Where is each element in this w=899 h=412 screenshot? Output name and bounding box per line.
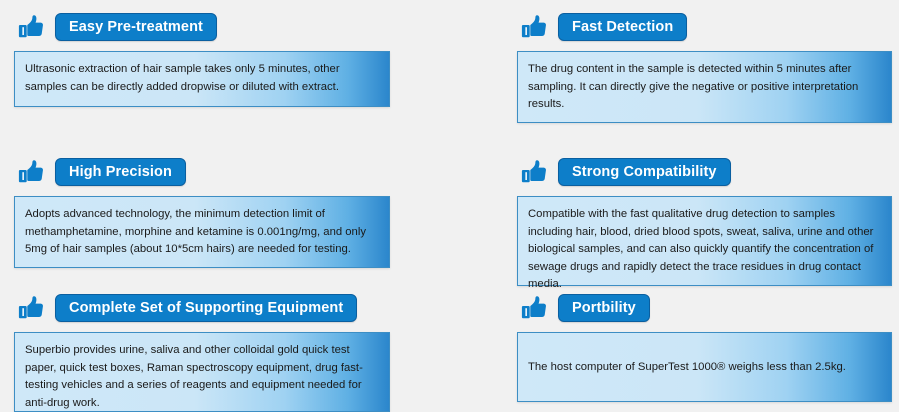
feature-header: Complete Set of Supporting Equipment	[14, 291, 390, 325]
feature-body-box: The drug content in the sample is detect…	[517, 51, 892, 123]
thumbs-up-icon	[519, 293, 549, 323]
feature-title: Easy Pre-treatment	[55, 13, 217, 41]
feature-header: Fast Detection	[517, 10, 892, 44]
feature-body-text: Compatible with the fast qualitative dru…	[528, 206, 879, 294]
feature-header: Portbility	[517, 291, 892, 325]
feature-header: High Precision	[14, 155, 390, 189]
feature-body-box: Compatible with the fast qualitative dru…	[517, 196, 892, 286]
feature-title: Complete Set of Supporting Equipment	[55, 294, 357, 322]
feature-header: Strong Compatibility	[517, 155, 892, 189]
feature-card-fast-detection: Fast Detection The drug content in the s…	[517, 10, 892, 123]
thumbs-up-icon	[16, 293, 46, 323]
thumbs-up-icon	[16, 12, 46, 42]
thumbs-up-icon	[16, 157, 46, 187]
thumbs-up-icon	[519, 12, 549, 42]
thumbs-up-icon	[519, 157, 549, 187]
feature-body-text: The drug content in the sample is detect…	[528, 61, 879, 114]
feature-header: Easy Pre-treatment	[14, 10, 390, 44]
feature-title: High Precision	[55, 158, 186, 186]
feature-card-high-precision: High Precision Adopts advanced technolog…	[14, 155, 390, 268]
feature-body-text: Adopts advanced technology, the minimum …	[25, 206, 377, 259]
feature-card-easy-pre-treatment: Easy Pre-treatment Ultrasonic extraction…	[14, 10, 390, 107]
feature-title: Strong Compatibility	[558, 158, 731, 186]
feature-card-strong-compatibility: Strong Compatibility Compatible with the…	[517, 155, 892, 286]
feature-body-box: Superbio provides urine, saliva and othe…	[14, 332, 390, 412]
feature-card-portbility: Portbility The host computer of SuperTes…	[517, 291, 892, 402]
feature-title: Portbility	[558, 294, 650, 322]
feature-body-text: Superbio provides urine, saliva and othe…	[25, 342, 377, 412]
feature-body-box: Ultrasonic extraction of hair sample tak…	[14, 51, 390, 107]
feature-grid: Easy Pre-treatment Ultrasonic extraction…	[0, 0, 899, 408]
feature-body-text: The host computer of SuperTest 1000® wei…	[528, 359, 879, 377]
feature-body-box: The host computer of SuperTest 1000® wei…	[517, 332, 892, 402]
feature-body-text: Ultrasonic extraction of hair sample tak…	[25, 61, 377, 96]
feature-body-box: Adopts advanced technology, the minimum …	[14, 196, 390, 268]
feature-title: Fast Detection	[558, 13, 687, 41]
feature-card-complete-set-of-supporting-equipment: Complete Set of Supporting Equipment Sup…	[14, 291, 390, 412]
